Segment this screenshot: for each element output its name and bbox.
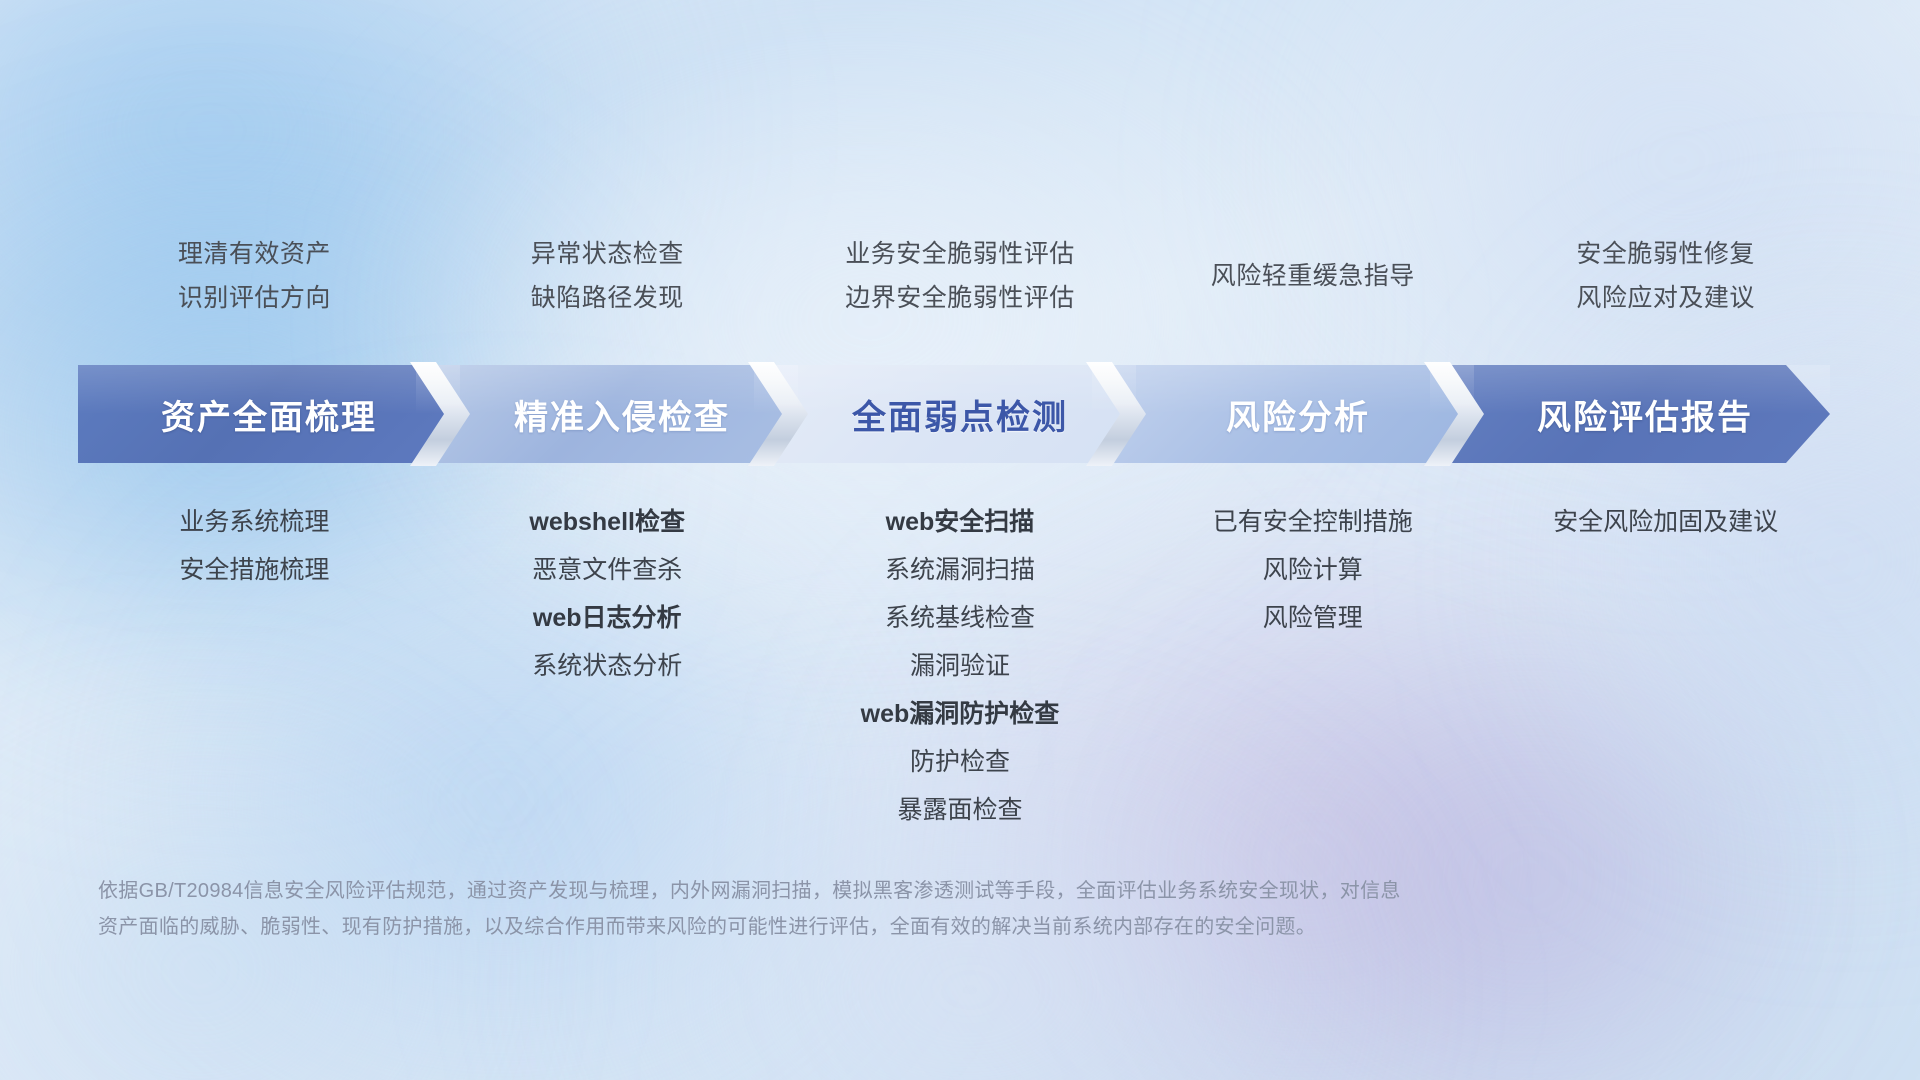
top-label: 边界安全脆弱性评估 — [784, 276, 1137, 320]
chevron-label: 风险评估报告 — [1507, 390, 1753, 439]
top-labels-stage-3: 业务安全脆弱性评估 边界安全脆弱性评估 — [784, 232, 1137, 320]
list-item: webshell检查 — [431, 498, 784, 546]
list-item: web漏洞防护检查 — [784, 690, 1137, 738]
top-labels-stage-5: 安全脆弱性修复 风险应对及建议 — [1489, 232, 1842, 320]
chevron-stage-2[interactable]: 精准入侵检查 — [416, 365, 798, 463]
chevron-label: 精准入侵检查 — [484, 390, 730, 439]
bottom-items-stage-2: webshell检查 恶意文件查杀 web日志分析 系统状态分析 — [431, 498, 784, 834]
footer-line-1: 依据GB/T20984信息安全风险评估规范，通过资产发现与梳理，内外网漏洞扫描，… — [98, 873, 1648, 909]
list-item: 漏洞验证 — [784, 642, 1137, 690]
footer-description: 依据GB/T20984信息安全风险评估规范，通过资产发现与梳理，内外网漏洞扫描，… — [98, 873, 1648, 945]
list-item: 系统漏洞扫描 — [784, 546, 1137, 594]
list-item: 系统基线检查 — [784, 594, 1137, 642]
bottom-items-stage-3: web安全扫描 系统漏洞扫描 系统基线检查 漏洞验证 web漏洞防护检查 防护检… — [784, 498, 1137, 834]
list-item: web安全扫描 — [784, 498, 1137, 546]
list-item: 恶意文件查杀 — [431, 546, 784, 594]
top-label-row: 理清有效资产 识别评估方向 异常状态检查 缺陷路径发现 业务安全脆弱性评估 边界… — [78, 232, 1842, 320]
list-item: 暴露面检查 — [784, 786, 1137, 834]
top-label: 理清有效资产 — [78, 232, 431, 276]
top-label: 风险应对及建议 — [1489, 276, 1842, 320]
list-item: 安全措施梳理 — [78, 546, 431, 594]
chevron-process-bar: 资产全面梳理 精准入侵检查 全面弱点检测 风险分析 风险评估报告 — [78, 365, 1848, 463]
top-label: 异常状态检查 — [431, 232, 784, 276]
top-labels-stage-2: 异常状态检查 缺陷路径发现 — [431, 232, 784, 320]
top-label: 风险轻重缓急指导 — [1136, 254, 1489, 298]
bottom-items-stage-1: 业务系统梳理 安全措施梳理 — [78, 498, 431, 834]
list-item: web日志分析 — [431, 594, 784, 642]
list-item: 业务系统梳理 — [78, 498, 431, 546]
chevron-label: 风险分析 — [1196, 390, 1370, 439]
list-item: 风险计算 — [1136, 546, 1489, 594]
chevron-stage-5[interactable]: 风险评估报告 — [1430, 365, 1830, 463]
top-labels-stage-1: 理清有效资产 识别评估方向 — [78, 232, 431, 320]
top-label: 缺陷路径发现 — [431, 276, 784, 320]
footer-line-2: 资产面临的威胁、脆弱性、现有防护措施，以及综合作用而带来风险的可能性进行评估，全… — [98, 909, 1648, 945]
list-item: 已有安全控制措施 — [1136, 498, 1489, 546]
bottom-list-row: 业务系统梳理 安全措施梳理 webshell检查 恶意文件查杀 web日志分析 … — [78, 498, 1842, 834]
top-label: 安全脆弱性修复 — [1489, 232, 1842, 276]
chevron-label: 资产全面梳理 — [161, 390, 377, 439]
top-labels-stage-4: 风险轻重缓急指导 — [1136, 232, 1489, 320]
list-item: 系统状态分析 — [431, 642, 784, 690]
bottom-items-stage-5: 安全风险加固及建议 — [1489, 498, 1842, 834]
list-item: 防护检查 — [784, 738, 1137, 786]
chevron-stage-1[interactable]: 资产全面梳理 — [78, 365, 460, 463]
chevron-stage-3[interactable]: 全面弱点检测 — [754, 365, 1136, 463]
top-label: 识别评估方向 — [78, 276, 431, 320]
process-diagram: 理清有效资产 识别评估方向 异常状态检查 缺陷路径发现 业务安全脆弱性评估 边界… — [0, 0, 1920, 1080]
list-item: 风险管理 — [1136, 594, 1489, 642]
chevron-stage-4[interactable]: 风险分析 — [1092, 365, 1474, 463]
list-item: 安全风险加固及建议 — [1489, 498, 1842, 546]
top-label: 业务安全脆弱性评估 — [784, 232, 1137, 276]
bottom-items-stage-4: 已有安全控制措施 风险计算 风险管理 — [1136, 498, 1489, 834]
chevron-label: 全面弱点检测 — [822, 390, 1068, 439]
